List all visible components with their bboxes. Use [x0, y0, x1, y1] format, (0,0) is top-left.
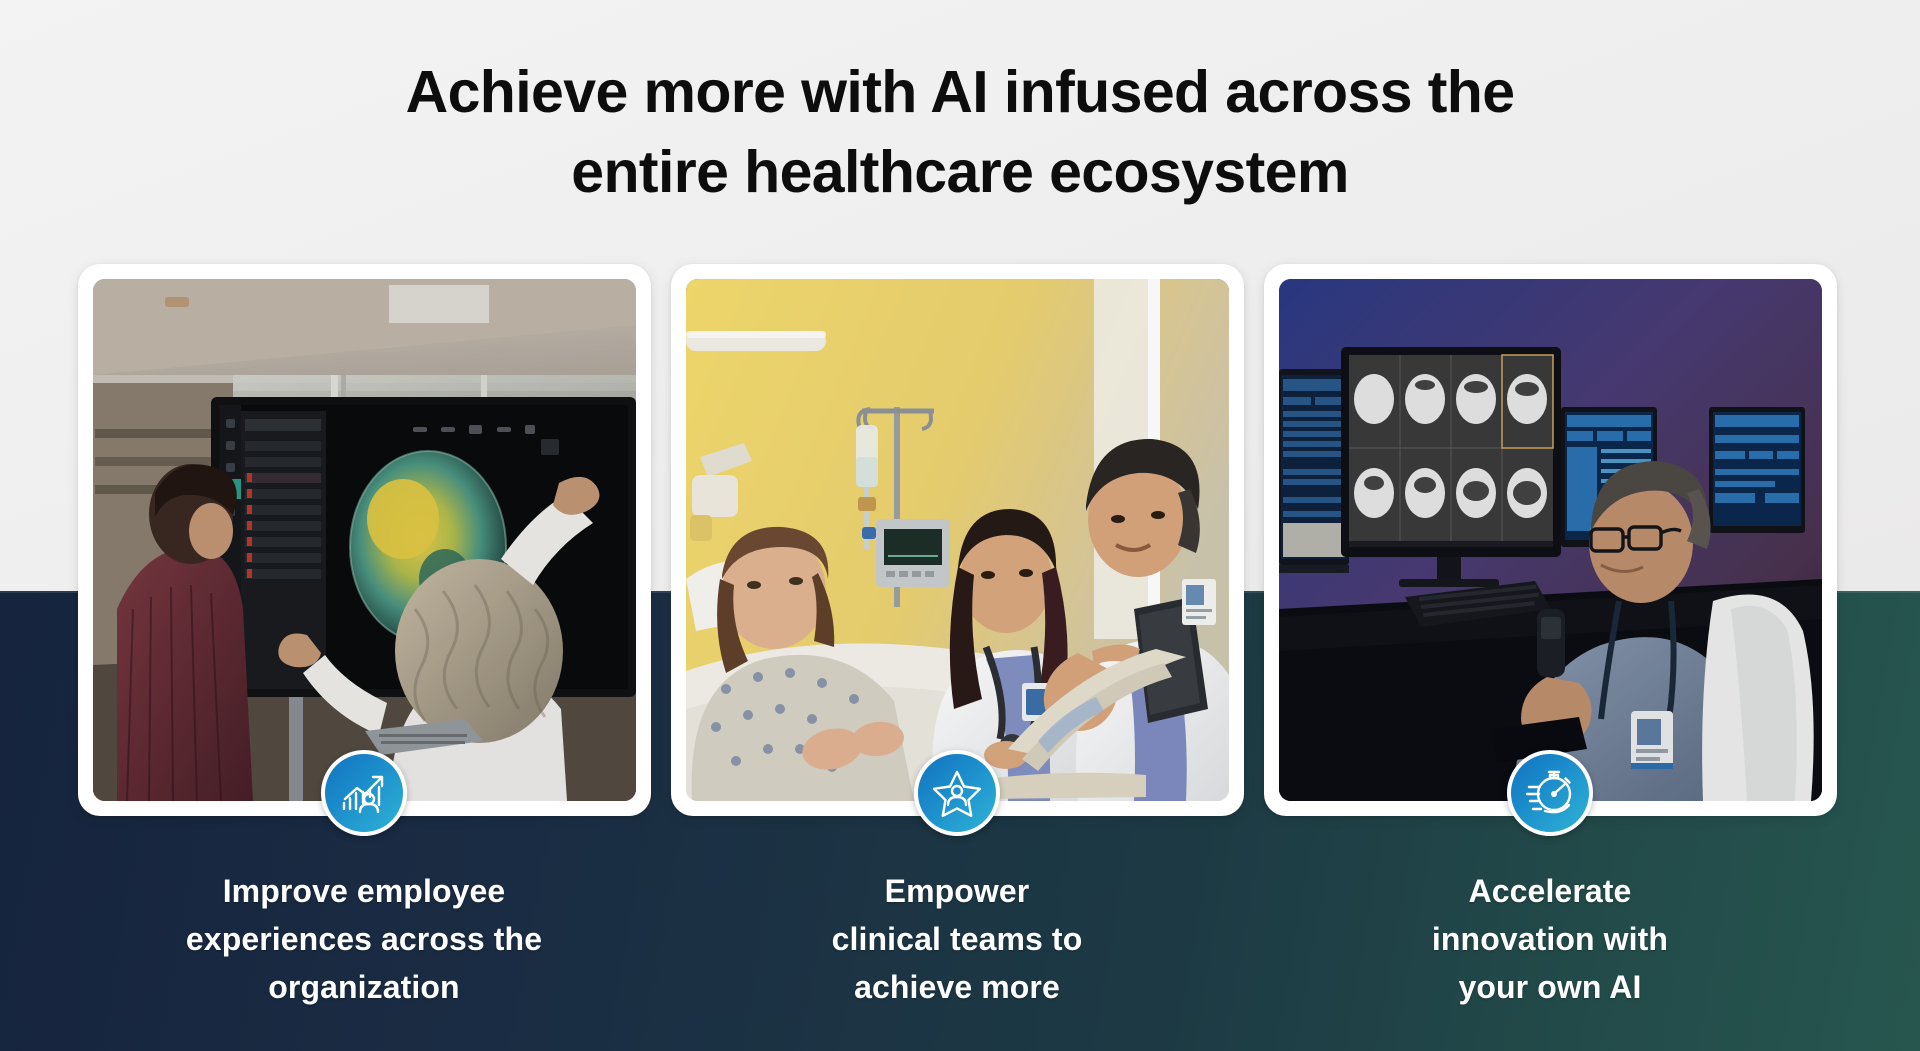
card-photo-radiology-reading-room — [1279, 279, 1822, 801]
star-person-icon — [914, 750, 1000, 836]
page-title-line-1: Achieve more with AI infused across the — [0, 52, 1920, 132]
caption-line: Empower — [737, 867, 1177, 915]
caption-line: clinical teams to — [737, 915, 1177, 963]
caption-line: experiences across the — [144, 915, 584, 963]
stopwatch-speed-icon — [1507, 750, 1593, 836]
card-caption-empower-clinical-teams: Empower clinical teams to achieve more — [737, 867, 1177, 1011]
page-title-line-2: entire healthcare ecosystem — [0, 132, 1920, 212]
caption-line: achieve more — [737, 963, 1177, 1011]
caption-line: innovation with — [1330, 915, 1770, 963]
card-photo-patient-bedside — [686, 279, 1229, 801]
slide-canvas: Achieve more with AI infused across the … — [0, 0, 1920, 1051]
card-caption-accelerate-innovation: Accelerate innovation with your own AI — [1330, 867, 1770, 1011]
caption-line: Accelerate — [1330, 867, 1770, 915]
card-accelerate-innovation[interactable] — [1264, 264, 1837, 816]
card-empower-clinical-teams[interactable] — [671, 264, 1244, 816]
card-caption-improve-employee-experiences: Improve employee experiences across the … — [144, 867, 584, 1011]
page-title: Achieve more with AI infused across the … — [0, 52, 1920, 212]
caption-line: your own AI — [1330, 963, 1770, 1011]
caption-line: organization — [144, 963, 584, 1011]
caption-line: Improve employee — [144, 867, 584, 915]
card-photo-touchscreen-review — [93, 279, 636, 801]
card-improve-employee-experiences[interactable] — [78, 264, 651, 816]
growth-chart-person-icon — [321, 750, 407, 836]
